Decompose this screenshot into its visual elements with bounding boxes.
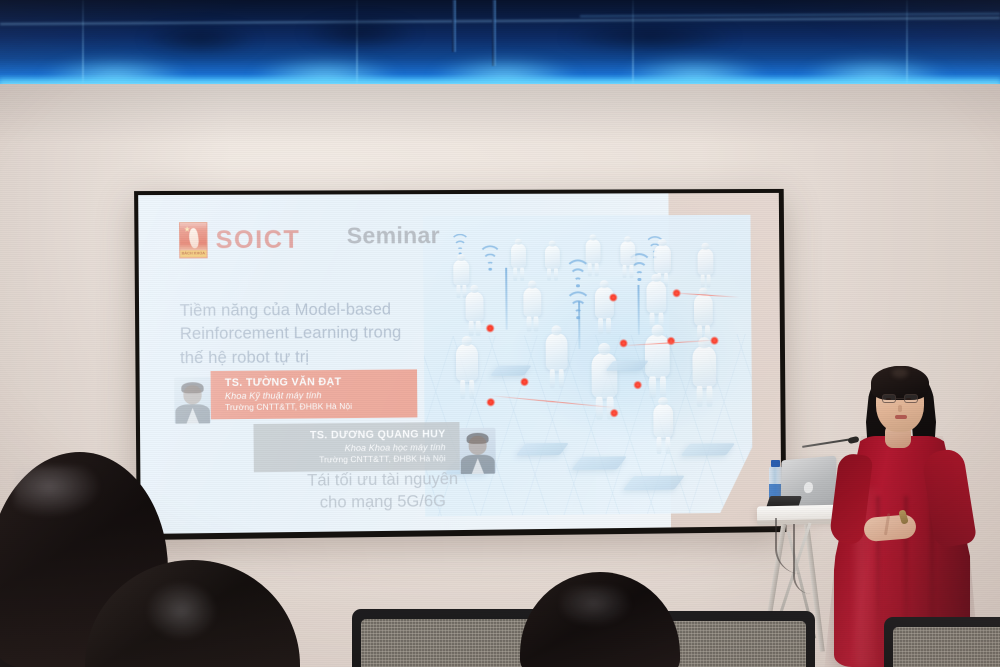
slide-kicker: Seminar xyxy=(347,222,440,249)
network-node xyxy=(667,336,676,345)
hust-soict-logo: BÁCH KHOA SOICT xyxy=(179,222,301,259)
speaker-card-1: TS. TƯỜNG VĂN ĐẠT Khoa Kỹ thuật máy tính… xyxy=(211,369,418,419)
microphone-icon xyxy=(847,436,859,444)
humanoid-robot xyxy=(586,239,601,264)
speaker-photo-dat xyxy=(174,377,211,424)
humanoid-robot xyxy=(620,241,635,266)
soict-wordmark: SOICT xyxy=(215,225,300,255)
torch-icon xyxy=(187,228,199,249)
network-node xyxy=(609,293,618,302)
speaker-name-1: TS. TƯỜNG VĂN ĐẠT xyxy=(225,375,403,389)
slide-title-line-3: thế hệ robot tự trị xyxy=(180,345,452,370)
crest-caption: BÁCH KHOA xyxy=(180,250,206,257)
slide-title-line-2: Reinforcement Learning trong xyxy=(180,321,452,346)
led-glow xyxy=(40,58,190,86)
wifi-icon xyxy=(477,249,504,269)
led-glow xyxy=(800,58,950,86)
humanoid-robot xyxy=(453,260,469,286)
bach-khoa-crest-icon: BÁCH KHOA xyxy=(179,222,208,258)
ceiling-with-led-strip xyxy=(0,0,1000,86)
humanoid-robot xyxy=(654,245,671,274)
humanoid-robot xyxy=(465,292,483,322)
antenna-mast xyxy=(505,268,507,330)
speaker-department-2: Khoa Khoa học máy tính xyxy=(268,442,446,454)
antenna-mast xyxy=(637,285,639,335)
humanoid-robot xyxy=(546,333,568,371)
power-cable xyxy=(793,524,811,594)
humanoid-robot xyxy=(523,288,541,318)
ceiling-post xyxy=(452,0,456,52)
laptop-logo-icon xyxy=(804,481,813,493)
bottle-cap xyxy=(771,460,780,467)
network-node xyxy=(520,377,529,386)
network-node xyxy=(610,409,619,418)
network-node xyxy=(486,398,495,407)
presenter-eye xyxy=(886,398,891,400)
slide-footer-line-1: Tái tối ưu tài nguyên xyxy=(252,467,513,492)
mesh-office-chair xyxy=(352,609,542,667)
speaker-name-2: TS. DƯƠNG QUANG HUY xyxy=(268,428,446,442)
humanoid-robot xyxy=(595,287,614,319)
ceiling-seam xyxy=(0,17,1000,25)
mesh-office-chair xyxy=(884,617,1000,667)
slide-footer-text: Tái tối ưu tài nguyên cho mạng 5G/6G xyxy=(252,467,513,515)
slide-footer-line-2: cho mạng 5G/6G xyxy=(252,490,513,515)
humanoid-robot xyxy=(511,244,526,269)
humanoid-robot xyxy=(653,404,673,438)
speaker-department-1: Khoa Kỹ thuật máy tính xyxy=(225,390,403,402)
ceiling-shadow xyxy=(300,16,420,50)
humanoid-robot xyxy=(456,344,478,382)
led-glow xyxy=(620,58,770,86)
slide-title: Tiềm năng của Model-based Reinforcement … xyxy=(180,298,452,370)
humanoid-robot xyxy=(545,246,560,270)
humanoid-robot xyxy=(697,249,713,276)
projected-slide: BÁCH KHOA SOICT Seminar Tiềm năng của Mo… xyxy=(138,193,781,534)
humanoid-robot xyxy=(692,346,716,388)
presenter-mouth xyxy=(895,415,907,419)
ceiling-shadow xyxy=(560,20,740,54)
robot-platform xyxy=(681,443,736,455)
speaker-affiliation-2: Trường CNTT&TT, ĐHBK Hà Nội xyxy=(268,453,446,465)
ceiling-post xyxy=(492,0,496,66)
humanoid-robot xyxy=(591,353,617,399)
led-glow xyxy=(430,58,580,86)
speaker-block-1: TS. TƯỜNG VĂN ĐẠT Khoa Kỹ thuật máy tính… xyxy=(174,369,417,423)
led-glow xyxy=(250,58,400,86)
seminar-photo-scene: BÁCH KHOA SOICT Seminar Tiềm năng của Mo… xyxy=(0,0,1000,667)
presenter-eye xyxy=(906,398,911,400)
antenna-mast xyxy=(578,301,580,349)
projection-screen-frame: BÁCH KHOA SOICT Seminar Tiềm năng của Mo… xyxy=(134,189,786,540)
humanoid-robot xyxy=(694,294,713,326)
wifi-icon xyxy=(449,237,472,254)
network-node xyxy=(633,381,642,390)
humanoid-robot xyxy=(646,281,666,314)
network-node xyxy=(486,324,495,333)
speaker-card-2: TS. DƯƠNG QUANG HUY Khoa Khoa học máy tí… xyxy=(253,422,459,472)
presenter-nose xyxy=(898,405,902,412)
ceiling-shadow xyxy=(140,22,260,56)
speaker-affiliation-1: Trường CNTT&TT, ĐHBK Hà Nội xyxy=(225,401,403,413)
slide-title-line-1: Tiềm năng của Model-based xyxy=(180,298,452,323)
